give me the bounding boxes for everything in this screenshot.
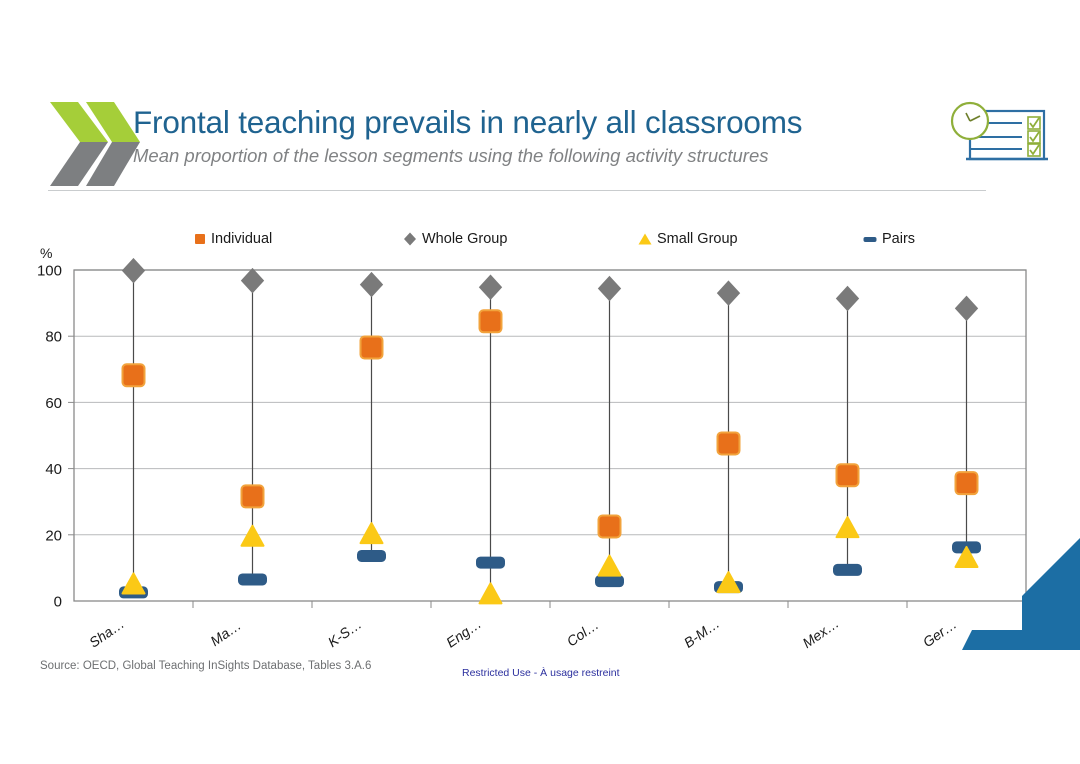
y-tick-label: 40 xyxy=(45,461,62,478)
header-divider xyxy=(48,190,986,191)
data-marker[interactable] xyxy=(599,277,621,301)
slide-header: Frontal teaching prevails in nearly all … xyxy=(0,0,1080,200)
whole-group-diamond-icon xyxy=(402,231,418,247)
plot-border xyxy=(74,270,1026,601)
individual-square-icon xyxy=(193,232,207,246)
x-category-label: Col… xyxy=(564,616,602,649)
data-marker[interactable] xyxy=(361,523,383,543)
data-marker[interactable] xyxy=(718,432,740,454)
data-marker[interactable] xyxy=(358,550,386,561)
chart-legend: Individual Whole Group Small Group Pairs xyxy=(150,228,970,252)
x-category-label: Eng… xyxy=(443,615,484,650)
data-marker[interactable] xyxy=(239,574,267,585)
title-block: Frontal teaching prevails in nearly all … xyxy=(133,104,933,167)
data-marker[interactable] xyxy=(123,259,145,283)
data-marker[interactable] xyxy=(123,573,145,593)
legend-label-whole-group: Whole Group xyxy=(422,231,507,247)
data-marker[interactable] xyxy=(123,364,145,386)
data-marker[interactable] xyxy=(715,582,743,593)
y-axis-unit-label: % xyxy=(40,245,52,261)
page-title: Frontal teaching prevails in nearly all … xyxy=(133,104,933,140)
data-marker[interactable] xyxy=(837,517,859,537)
data-marker[interactable] xyxy=(242,485,264,507)
y-axis-ticks: 020406080100 xyxy=(37,263,74,611)
legend-item-pairs[interactable]: Pairs xyxy=(862,228,915,250)
data-marker[interactable] xyxy=(477,557,505,568)
data-marker[interactable] xyxy=(834,564,862,575)
data-marker[interactable] xyxy=(361,273,383,297)
y-tick-label: 100 xyxy=(37,263,62,280)
data-marker[interactable] xyxy=(361,336,383,358)
data-markers xyxy=(120,259,981,604)
x-axis-ticks xyxy=(193,601,907,608)
x-category-label: B-M… xyxy=(681,615,723,651)
connector-lines xyxy=(134,271,967,595)
data-marker[interactable] xyxy=(599,516,621,538)
data-marker[interactable] xyxy=(120,587,148,598)
plot-box-border xyxy=(74,270,1026,601)
legend-item-small-group[interactable]: Small Group xyxy=(637,228,738,250)
x-category-label: Ger… xyxy=(920,616,960,651)
data-marker[interactable] xyxy=(837,286,859,310)
data-marker[interactable] xyxy=(718,281,740,305)
legend-item-whole-group[interactable]: Whole Group xyxy=(402,228,507,250)
category-labels: Sha…Ma…K-S…Eng…Col…B-M…Mex…Ger… xyxy=(86,615,959,651)
grid-lines xyxy=(74,270,1026,535)
corner-decoration xyxy=(962,538,1080,668)
y-tick-label: 0 xyxy=(54,594,62,611)
legend-item-individual[interactable]: Individual xyxy=(193,228,272,250)
pairs-bar-icon xyxy=(862,233,878,245)
data-marker[interactable] xyxy=(599,556,621,576)
data-marker[interactable] xyxy=(956,296,978,320)
data-marker[interactable] xyxy=(596,576,624,587)
data-marker[interactable] xyxy=(242,526,264,546)
y-tick-label: 20 xyxy=(45,527,62,544)
double-chevron-icon xyxy=(48,100,140,188)
data-marker[interactable] xyxy=(480,275,502,299)
legend-label-pairs: Pairs xyxy=(882,231,915,247)
y-tick-label: 80 xyxy=(45,329,62,346)
x-category-label: Ma… xyxy=(207,617,244,649)
data-marker[interactable] xyxy=(242,269,264,293)
x-category-label: Mex… xyxy=(799,615,841,651)
legend-label-individual: Individual xyxy=(211,231,272,247)
x-category-label: K-S… xyxy=(325,616,365,651)
restricted-use-note: Restricted Use - À usage restreint xyxy=(462,667,620,679)
data-marker[interactable] xyxy=(480,310,502,332)
checklist-clipboard-icon xyxy=(948,99,1052,171)
page-subtitle: Mean proportion of the lesson segments u… xyxy=(133,145,933,167)
small-group-triangle-icon xyxy=(637,232,653,246)
data-marker[interactable] xyxy=(837,464,859,486)
legend-label-small-group: Small Group xyxy=(657,231,738,247)
data-marker[interactable] xyxy=(480,583,502,603)
x-category-label: Sha… xyxy=(86,615,127,650)
source-note: Source: OECD, Global Teaching InSights D… xyxy=(40,660,371,672)
data-marker[interactable] xyxy=(956,472,978,494)
y-tick-label: 60 xyxy=(45,395,62,412)
data-marker[interactable] xyxy=(718,572,740,592)
